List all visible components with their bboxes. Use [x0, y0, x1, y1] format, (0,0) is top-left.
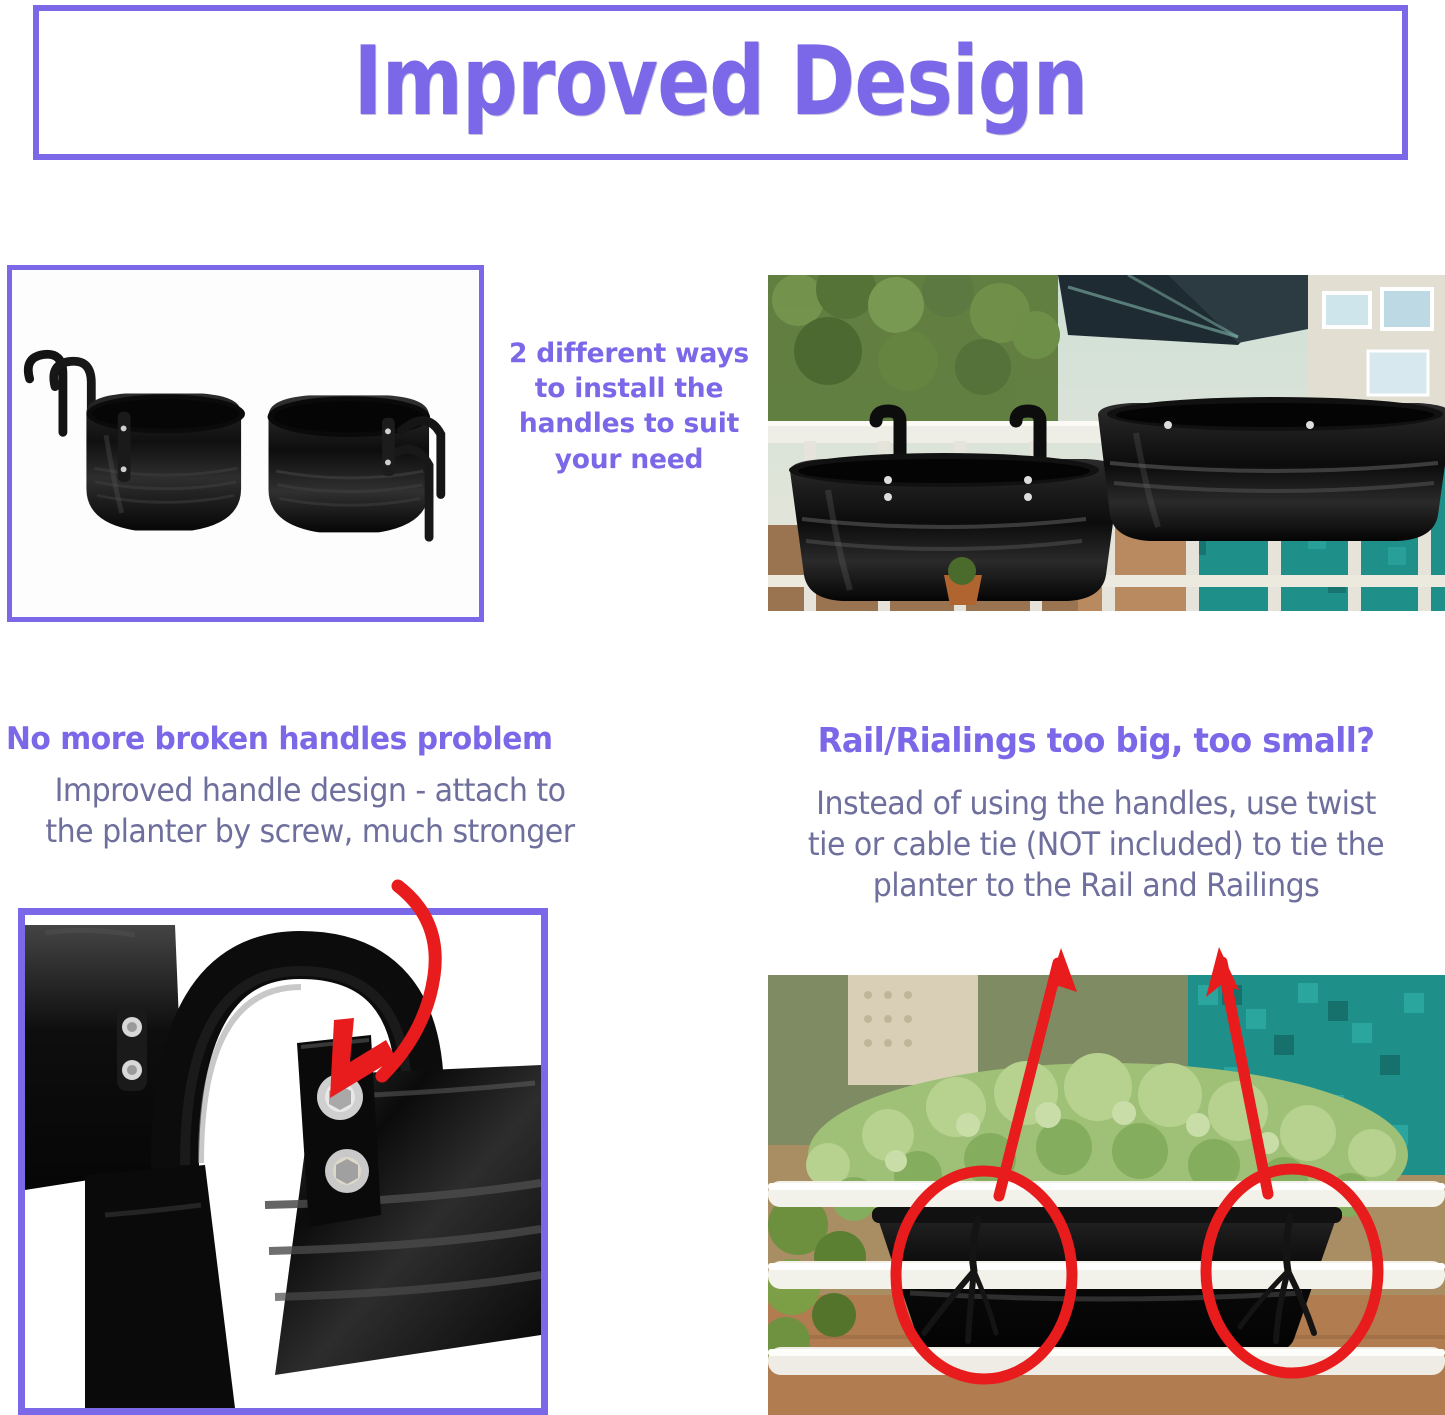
broken-handles-heading: No more broken handles problem — [6, 722, 590, 758]
planter-right — [268, 395, 441, 537]
lifestyle-photo-railing-planters — [768, 275, 1445, 611]
railing-size-body-line-2: tie or cable tie (NOT included) to tie t… — [773, 824, 1420, 865]
two-planters-illustration — [12, 270, 479, 617]
handle-screw-closeup-illustration — [25, 915, 541, 1408]
product-photo-frame-two-planters — [7, 265, 484, 622]
railing-size-body-line-1: Instead of using the handles, use twist — [773, 783, 1420, 824]
broken-handles-body: Improved handle design - attach to the p… — [24, 770, 596, 852]
broken-handles-text-block: No more broken handles problem Improved … — [6, 722, 614, 852]
caption-line-4: your need — [494, 442, 764, 477]
railing-size-body-line-3: planter to the Rail and Railings — [773, 865, 1420, 906]
header-banner: Improved Design — [33, 5, 1408, 160]
railing-size-heading: Rail/Rialings too big, too small? — [769, 722, 1423, 761]
caption-line-1: 2 different ways — [494, 336, 764, 371]
hanging-planter-right — [1098, 397, 1445, 541]
railing-size-text-block: Rail/Rialings too big, too small? Instea… — [752, 722, 1440, 906]
screw-lower — [325, 1149, 369, 1193]
railing-size-body: Instead of using the handles, use twist … — [773, 783, 1420, 906]
install-ways-caption: 2 different ways to install the handles … — [494, 336, 764, 477]
railing-planters-illustration — [768, 275, 1445, 611]
screw-upper — [317, 1074, 363, 1120]
handle-closeup-photo-frame — [18, 908, 548, 1415]
caption-line-2: to install the — [494, 371, 764, 406]
caption-line-3: handles to suit — [494, 406, 764, 441]
cable-tie-photo — [768, 975, 1445, 1415]
broken-handles-body-line-2: the planter by screw, much stronger — [24, 811, 596, 852]
broken-handles-body-line-1: Improved handle design - attach to — [24, 770, 596, 811]
product-photo-two-planters — [12, 270, 479, 617]
cable-tie-illustration — [768, 975, 1445, 1415]
page-title: Improved Design — [354, 35, 1088, 130]
